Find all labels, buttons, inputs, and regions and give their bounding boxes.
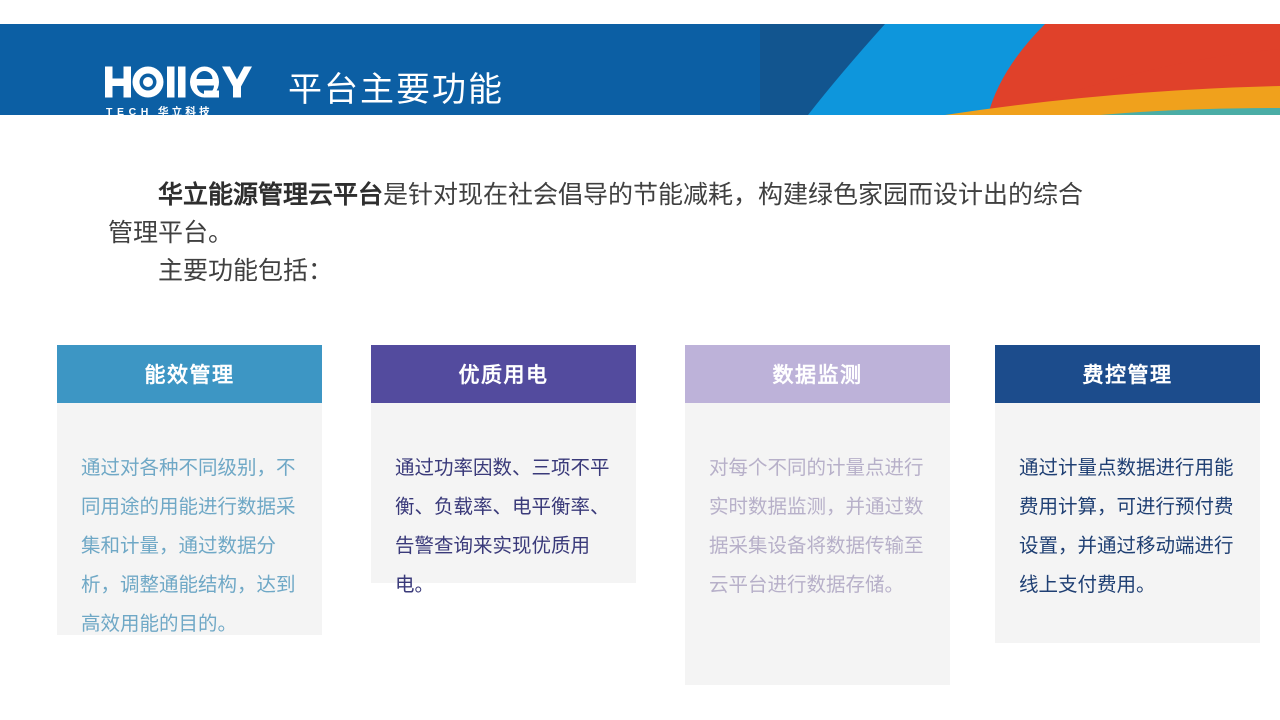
card-text-quality-power: 通过功率因数、三项不平衡、负载率、电平衡率、告警查询来实现优质用电。 xyxy=(395,448,612,604)
card-header-quality-power: 优质用电 xyxy=(371,345,636,403)
brand-sub-cn: 华立科技 xyxy=(158,107,213,115)
feature-card-quality-power[interactable]: 优质用电 通过功率因数、三项不平衡、负载率、电平衡率、告警查询来实现优质用电。 xyxy=(371,345,636,583)
intro-text-block: 华立能源管理云平台是针对现在社会倡导的节能减耗，构建绿色家园而设计出的综合管理平… xyxy=(108,176,1108,290)
slide-header-band: TECH 华立科技 平台主要功能 xyxy=(0,24,1280,115)
card-header-fee-control: 费控管理 xyxy=(995,345,1260,403)
card-body-quality-power: 通过功率因数、三项不平衡、负载率、电平衡率、告警查询来实现优质用电。 xyxy=(371,403,636,583)
page-title: 平台主要功能 xyxy=(288,68,504,112)
card-header-energy-efficiency: 能效管理 xyxy=(57,345,322,403)
feature-card-row: 能效管理 通过对各种不同级别，不同用途的用能进行数据采集和计量，通过数据分析，调… xyxy=(0,345,1280,685)
card-body-data-monitoring: 对每个不同的计量点进行实时数据监测，并通过数据采集设备将数据传输至云平台进行数据… xyxy=(685,403,950,685)
brand-logo: TECH 华立科技 xyxy=(104,62,264,115)
card-text-fee-control: 通过计量点数据进行用能费用计算，可进行预付费设置，并通过移动端进行线上支付费用。 xyxy=(1019,448,1236,604)
intro-subline: 主要功能包括： xyxy=(108,252,1108,290)
card-body-fee-control: 通过计量点数据进行用能费用计算，可进行预付费设置，并通过移动端进行线上支付费用。 xyxy=(995,403,1260,643)
card-body-energy-efficiency: 通过对各种不同级别，不同用途的用能进行数据采集和计量，通过数据分析，调整通能结构… xyxy=(57,403,322,635)
slide-root: TECH 华立科技 平台主要功能 华立能源管理云平台是针对现在社会倡导的节能减耗… xyxy=(0,0,1280,720)
brand-sub-latin: TECH xyxy=(106,107,153,115)
feature-card-data-monitoring[interactable]: 数据监测 对每个不同的计量点进行实时数据监测，并通过数据采集设备将数据传输至云平… xyxy=(685,345,950,685)
intro-paragraph: 华立能源管理云平台是针对现在社会倡导的节能减耗，构建绿色家园而设计出的综合管理平… xyxy=(108,176,1108,252)
card-text-data-monitoring: 对每个不同的计量点进行实时数据监测，并通过数据采集设备将数据传输至云平台进行数据… xyxy=(709,448,926,604)
card-text-energy-efficiency: 通过对各种不同级别，不同用途的用能进行数据采集和计量，通过数据分析，调整通能结构… xyxy=(81,448,298,643)
card-header-data-monitoring: 数据监测 xyxy=(685,345,950,403)
intro-emphasis: 华立能源管理云平台 xyxy=(158,180,383,209)
brand-subline: TECH 华立科技 xyxy=(104,107,264,115)
feature-card-fee-control[interactable]: 费控管理 通过计量点数据进行用能费用计算，可进行预付费设置，并通过移动端进行线上… xyxy=(995,345,1260,643)
holley-wordmark-icon xyxy=(104,62,264,106)
feature-card-energy-efficiency[interactable]: 能效管理 通过对各种不同级别，不同用途的用能进行数据采集和计量，通过数据分析，调… xyxy=(57,345,322,635)
